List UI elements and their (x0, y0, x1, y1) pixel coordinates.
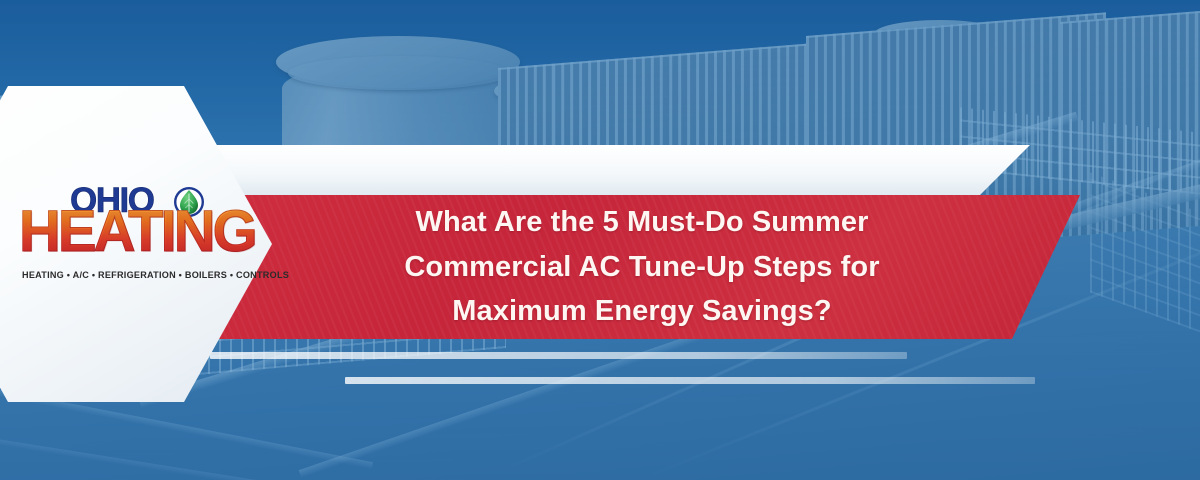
logo-tagline: HEATING • A/C • REFRIGERATION • BOILERS … (22, 270, 250, 280)
hero-banner: What Are the 5 Must-Do Summer Commercial… (0, 0, 1200, 480)
red-headline-band (150, 195, 1080, 339)
decorative-rule-upper (210, 352, 907, 359)
logo-word-heating: HEATING (19, 203, 255, 261)
decorative-rule-lower (345, 377, 1035, 384)
company-logo[interactable]: OHIO HEATING HEATING • A/C • REFRIGERATI… (18, 183, 250, 295)
